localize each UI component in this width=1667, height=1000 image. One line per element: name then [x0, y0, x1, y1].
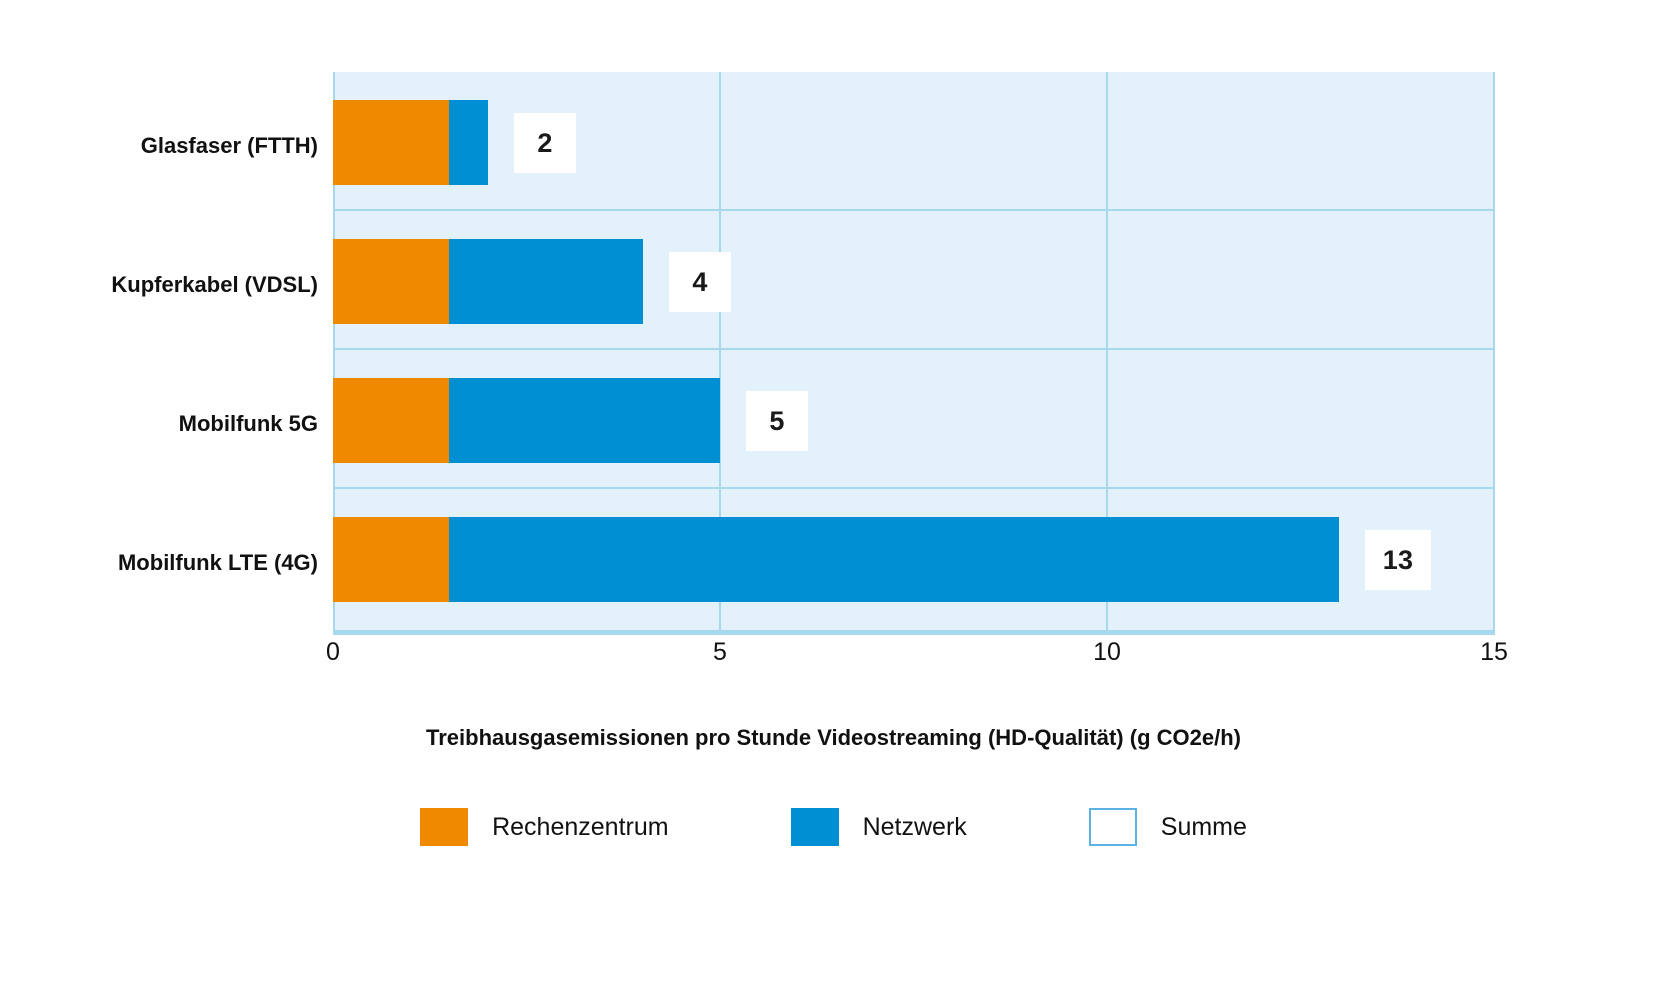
bar-segment-rechenzentrum[interactable] [333, 239, 449, 324]
bar-segment-netzwerk[interactable] [449, 239, 643, 324]
gridline-horizontal [333, 209, 1495, 211]
legend-swatch-icon [791, 808, 839, 846]
legend-swatch-icon [1089, 808, 1137, 846]
legend-item-rechenzentrum[interactable]: Rechenzentrum [420, 808, 668, 846]
x-tick-label-5: 5 [713, 638, 727, 667]
x-tick-label-15: 15 [1480, 638, 1508, 667]
gridline-horizontal [333, 487, 1495, 489]
gridline-horizontal [333, 348, 1495, 350]
bar-segment-netzwerk[interactable] [449, 378, 720, 463]
category-label-glasfaser: Glasfaser (FTTH) [141, 133, 318, 159]
total-value-box: 4 [669, 252, 731, 312]
total-value-box: 13 [1365, 530, 1431, 590]
x-axis-baseline [333, 630, 1495, 635]
x-tick-label-0: 0 [326, 638, 340, 667]
legend-spacer [669, 827, 791, 828]
x-tick-label-10: 10 [1093, 638, 1121, 667]
stacked-bar-chart: 2 4 5 13 Glasfaser (FTTH) Kupferkabel (V… [0, 0, 1667, 1000]
bar-segment-netzwerk[interactable] [449, 517, 1339, 602]
legend-label: Summe [1161, 813, 1247, 842]
plot-area: 2 4 5 13 [333, 72, 1495, 630]
bar-segment-rechenzentrum[interactable] [333, 100, 449, 185]
legend-label: Rechenzentrum [492, 813, 668, 842]
total-value-box: 5 [746, 391, 808, 451]
bar-segment-netzwerk[interactable] [449, 100, 488, 185]
legend-item-summe[interactable]: Summe [1089, 808, 1247, 846]
legend-spacer [967, 827, 1089, 828]
category-label-kupferkabel: Kupferkabel (VDSL) [111, 272, 318, 298]
category-label-mobilfunk-5g: Mobilfunk 5G [179, 411, 318, 437]
gridline-vertical-15 [1493, 72, 1495, 630]
category-label-mobilfunk-lte: Mobilfunk LTE (4G) [118, 550, 318, 576]
total-value-box: 2 [514, 113, 576, 173]
legend-item-netzwerk[interactable]: Netzwerk [791, 808, 967, 846]
legend-label: Netzwerk [863, 813, 967, 842]
x-axis-title: Treibhausgasemissionen pro Stunde Videos… [0, 725, 1667, 751]
chart-legend: Rechenzentrum Netzwerk Summe [0, 808, 1667, 846]
bar-segment-rechenzentrum[interactable] [333, 517, 449, 602]
legend-swatch-icon [420, 808, 468, 846]
bar-segment-rechenzentrum[interactable] [333, 378, 449, 463]
